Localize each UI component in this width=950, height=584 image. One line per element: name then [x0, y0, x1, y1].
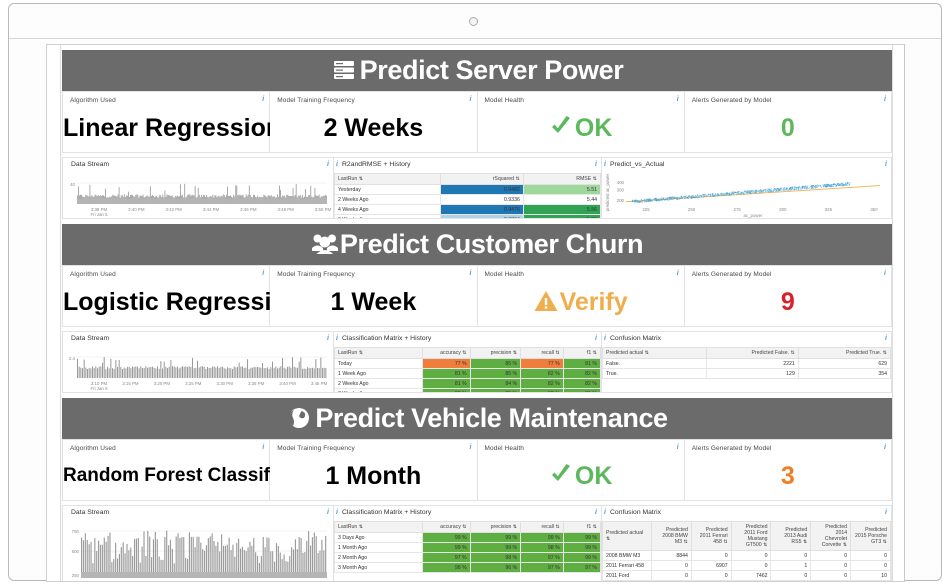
- svg-text:3:44 PM: 3:44 PM: [203, 207, 220, 212]
- cell-recall: 98 %: [521, 543, 564, 553]
- info-icon[interactable]: i: [336, 161, 338, 168]
- cell-rmse: 5.51: [523, 185, 600, 195]
- panel-header: i Confusion Matrix i: [602, 506, 891, 521]
- info-icon[interactable]: i: [604, 161, 606, 168]
- info-icon[interactable]: i: [884, 444, 886, 451]
- cell-precision: 98 %: [470, 553, 521, 563]
- cell-precision: 99 %: [470, 543, 521, 553]
- cell-rsquared: 0.9336: [441, 195, 523, 205]
- cell-f1: 82 %: [563, 379, 600, 389]
- info-icon[interactable]: i: [327, 509, 329, 516]
- table-row[interactable]: 2008 BMW M3884400000: [603, 551, 891, 561]
- cell-count: 0: [851, 551, 891, 561]
- col-header[interactable]: RMSE ⇅: [523, 174, 600, 185]
- svg-text:3:25 PM: 3:25 PM: [185, 381, 202, 386]
- svg-text:40: 40: [70, 182, 75, 187]
- info-icon[interactable]: i: [595, 509, 597, 516]
- panel-title: Predict_vs_Actual: [610, 161, 664, 168]
- cell-recall: 82 %: [521, 369, 564, 379]
- cell-count: 0: [691, 571, 731, 581]
- info-icon[interactable]: i: [327, 335, 329, 342]
- cell-lastrun: 2 Month Ago: [335, 553, 423, 563]
- right-gutter: [892, 45, 905, 582]
- kpi-value-algorithm: Random Forest Classifier: [63, 459, 269, 493]
- info-icon[interactable]: i: [885, 335, 887, 342]
- panel-title: Confusion Matrix: [610, 509, 661, 516]
- cell-count: 0: [811, 571, 851, 581]
- svg-text:3:30 PM: 3:30 PM: [217, 381, 234, 386]
- kpi-label: Algorithm Used: [70, 271, 116, 278]
- bezel-divider: [9, 38, 941, 39]
- cell-actual: 2011 Ford: [603, 571, 652, 581]
- panel-row: Data Stream i 2.43:10 PM3:15 PM3:20 PM3:…: [62, 331, 892, 393]
- svg-text:2018: 2018: [94, 217, 104, 219]
- cell-recall: 99 %: [521, 533, 564, 543]
- kpi-health[interactable]: Model Health i OK: [478, 91, 685, 153]
- svg-text:3:20 PM: 3:20 PM: [154, 381, 171, 386]
- cell-lastrun: 3 Days Ago: [335, 533, 423, 543]
- kpi-alerts[interactable]: Alerts Generated by Model i 0: [685, 91, 892, 153]
- kpi-frequency[interactable]: Model Training Frequency i 2 Weeks: [270, 91, 477, 153]
- cell-precision: 85 %: [470, 389, 521, 394]
- panel-title: R2andRMSE + History: [342, 161, 411, 168]
- check-icon: [549, 113, 573, 147]
- col-header[interactable]: Predicted actual ⇅: [603, 522, 652, 551]
- info-icon[interactable]: i: [262, 96, 264, 103]
- cell-count: 7462: [731, 571, 771, 581]
- cell-f1: 97 %: [563, 563, 600, 573]
- cell-count: 354: [798, 369, 890, 379]
- kpi-alerts[interactable]: Alerts Generated by Model i 3: [685, 439, 892, 501]
- section-predict-server-power: Predict Server Power Algorithm Used i Li…: [62, 50, 892, 219]
- camera-dot: [469, 17, 478, 26]
- cell-lastrun: 3 Weeks Ago: [335, 389, 423, 394]
- cell-accuracy: 81 %: [422, 379, 470, 389]
- cell-lastrun: 2 Weeks Ago: [335, 379, 423, 389]
- cell-count: 2221: [706, 359, 798, 369]
- col-header[interactable]: LastRun ⇅: [335, 174, 441, 185]
- data-stream-chart: 403:38 PM3:40 PM3:42 PM3:44 PM3:46 PM3:4…: [63, 173, 333, 219]
- info-icon[interactable]: i: [677, 444, 679, 451]
- panel-data-stream: Data Stream i 750500250: [62, 505, 334, 582]
- kpi-value-algorithm: Linear Regression: [63, 111, 269, 145]
- cell-count: 0: [811, 551, 851, 561]
- cell-recall: 97 %: [521, 563, 564, 573]
- table-row[interactable]: 3 Weeks Ago 82 % 85 % 83 % 81 %: [335, 389, 601, 394]
- cell-lastrun: 3 Month Ago: [335, 563, 423, 573]
- info-icon[interactable]: i: [884, 96, 886, 103]
- cell-count: 6907: [691, 561, 731, 571]
- kpi-value-frequency: 1 Week: [270, 285, 476, 319]
- kpi-health[interactable]: Model Health i Verify: [478, 265, 685, 327]
- table-row[interactable]: 6 Weeks Ago 0.9394 5.55: [335, 215, 601, 220]
- kpi-label: Model Training Frequency: [277, 97, 355, 104]
- kpi-algorithm[interactable]: Algorithm Used i Logistic Regression: [62, 265, 270, 327]
- info-icon[interactable]: i: [884, 270, 886, 277]
- cell-f1: 82 %: [563, 369, 600, 379]
- col-header[interactable]: Predicted True. ⇅: [798, 348, 890, 359]
- svg-text:2018: 2018: [94, 391, 104, 393]
- kpi-value-health: Verify: [478, 285, 684, 321]
- confusion-matrix-table: Predicted actual ⇅Predicted 2008 BMW M3 …: [602, 521, 891, 581]
- kpi-value-alerts: 3: [685, 459, 891, 493]
- panel-title: Confusion Matrix: [610, 335, 661, 342]
- kpi-value-alerts: 9: [685, 285, 891, 319]
- cell-lastrun: 2 Weeks Ago: [335, 195, 441, 205]
- panel-metrics: i Classification Matrix + History i Last…: [334, 505, 602, 582]
- svg-text:2.4: 2.4: [69, 356, 76, 361]
- panel-metrics: i Classification Matrix + History i Last…: [334, 331, 602, 393]
- col-header[interactable]: LastRun ⇅: [335, 522, 423, 533]
- cell-rmse: 5.56: [523, 205, 600, 215]
- svg-text:3:40 PM: 3:40 PM: [128, 207, 145, 212]
- cell-lastrun: Today: [335, 359, 423, 369]
- col-header[interactable]: recall ⇅: [521, 522, 564, 533]
- col-header[interactable]: Predicted 2015 Porsche GT3 ⇅: [851, 522, 891, 551]
- svg-text:200: 200: [617, 198, 625, 203]
- info-icon[interactable]: i: [336, 335, 338, 342]
- kpi-value-health: OK: [478, 459, 684, 495]
- col-header[interactable]: precision ⇅: [470, 348, 521, 359]
- cell-count: 129: [706, 369, 798, 379]
- svg-text:350: 350: [870, 207, 878, 212]
- cell-accuracy: 99 %: [422, 543, 470, 553]
- section-banner: Predict Vehicle Maintenance: [62, 398, 892, 439]
- section-banner: Predict Server Power: [62, 50, 892, 91]
- col-header[interactable]: Predicted 2013 Audi RS5 ⇅: [771, 522, 811, 551]
- cell-rsquared: 0.9394: [441, 215, 523, 220]
- info-icon[interactable]: i: [470, 96, 472, 103]
- info-icon[interactable]: i: [262, 444, 264, 451]
- panel-header: i R2andRMSE + History i: [334, 158, 601, 173]
- info-icon[interactable]: i: [885, 161, 887, 168]
- info-icon[interactable]: i: [595, 161, 597, 168]
- cell-precision: 96 %: [470, 563, 521, 573]
- svg-text:400: 400: [617, 180, 625, 185]
- panel-third: i Confusion Matrix i Predicted actual ⇅P…: [602, 331, 892, 393]
- cell-precision: 86 %: [470, 359, 521, 369]
- table-row[interactable]: 3 Month Ago 98 % 96 % 97 % 97 %: [335, 563, 601, 573]
- panel-title: Classification Matrix + History: [342, 335, 431, 342]
- classification-matrix-table: LastRun ⇅accuracy ⇅precision ⇅recall ⇅f1…: [334, 347, 601, 393]
- info-icon[interactable]: i: [595, 335, 597, 342]
- col-header[interactable]: accuracy ⇅: [422, 522, 470, 533]
- tablet-screen: Predict Server Power Algorithm Used i Li…: [46, 44, 905, 582]
- kpi-label: Model Training Frequency: [277, 445, 355, 452]
- svg-text:300: 300: [617, 188, 625, 193]
- panel-metrics: i R2andRMSE + History i LastRun ⇅rSquare…: [334, 157, 602, 219]
- kpi-label: Alerts Generated by Model: [692, 97, 772, 104]
- svg-text:3:45 PM: 3:45 PM: [311, 381, 328, 386]
- panel-header: i Confusion Matrix i: [602, 332, 891, 347]
- cell-accuracy: 97 %: [422, 553, 470, 563]
- svg-text:3:35 PM: 3:35 PM: [248, 381, 265, 386]
- kpi-label: Model Health: [485, 445, 525, 452]
- kpi-row: Algorithm Used i Linear Regression Model…: [62, 91, 892, 153]
- tablet-device: Predict Server Power Algorithm Used i Li…: [0, 0, 950, 584]
- cell-f1: 81 %: [563, 389, 600, 394]
- cell-actual: 2008 BMW M3: [603, 551, 652, 561]
- cell-count: 0: [771, 551, 811, 561]
- panel-third: i Confusion Matrix i Predicted actual ⇅P…: [602, 505, 892, 582]
- section-banner: Predict Customer Churn: [62, 224, 892, 265]
- svg-text:3:48 PM: 3:48 PM: [277, 207, 294, 212]
- kpi-label: Algorithm Used: [70, 445, 116, 452]
- cell-count: 1: [771, 561, 811, 571]
- kpi-algorithm[interactable]: Algorithm Used i Linear Regression: [62, 91, 270, 153]
- cell-recall: 83 %: [521, 389, 564, 394]
- cell-count: 8844: [652, 551, 692, 561]
- svg-text:3:15 PM: 3:15 PM: [122, 381, 139, 386]
- table-row[interactable]: Today 77 % 86 % 77 % 81 %: [335, 359, 601, 369]
- svg-text:300: 300: [779, 207, 787, 212]
- server-icon: [331, 57, 357, 83]
- svg-text:250: 250: [688, 207, 696, 212]
- panel-title: Classification Matrix + History: [342, 509, 431, 516]
- panel-header: Data Stream i: [63, 158, 333, 173]
- cell-precision: 84 %: [470, 379, 521, 389]
- svg-text:3:42 PM: 3:42 PM: [165, 207, 182, 212]
- kpi-label: Alerts Generated by Model: [692, 271, 772, 278]
- kpi-value-frequency: 1 Month: [270, 459, 476, 493]
- cell-precision: 85 %: [470, 369, 521, 379]
- data-stream-chart: 750500250: [63, 521, 333, 582]
- kpi-value-algorithm: Logistic Regression: [63, 285, 269, 319]
- panel-header: i Predict_vs_Actual i: [602, 158, 891, 173]
- table-row[interactable]: 2 Month Ago 97 % 98 % 97 % 99 %: [335, 553, 601, 563]
- svg-text:225: 225: [642, 207, 650, 212]
- kpi-label: Model Health: [485, 97, 525, 104]
- info-icon[interactable]: i: [885, 509, 887, 516]
- check-icon: [549, 461, 573, 495]
- cell-count: 0: [851, 561, 891, 571]
- panel-title: Data Stream: [71, 509, 109, 516]
- data-stream-chart: 2.43:10 PM3:15 PM3:20 PM3:25 PM3:30 PM3:…: [63, 347, 333, 393]
- panel-row: Data Stream i 403:38 PM3:40 PM3:42 PM3:4…: [62, 157, 892, 219]
- col-header[interactable]: Predicted 2011 Ford Mustang GT500 ⇅: [731, 522, 771, 551]
- svg-text:750: 750: [72, 529, 80, 534]
- cell-f1: 99 %: [563, 533, 600, 543]
- table-row[interactable]: 2011 Ferrari 458069070100: [603, 561, 891, 571]
- col-header[interactable]: Predicted 2008 BMW M3 ⇅: [652, 522, 692, 551]
- table-row[interactable]: 2 Weeks Ago 81 % 84 % 82 % 82 %: [335, 379, 601, 389]
- kpi-row: Algorithm Used i Random Forest Classifie…: [62, 439, 892, 501]
- cell-precision: 99 %: [470, 533, 521, 543]
- table-row[interactable]: 3 Days Ago 99 % 99 % 99 % 99 %: [335, 533, 601, 543]
- col-header[interactable]: Predicted 2014 Chevrolet Corvette ⇅: [811, 522, 851, 551]
- left-gutter: [47, 45, 61, 582]
- kpi-frequency[interactable]: Model Training Frequency i 1 Week: [270, 265, 477, 327]
- kpi-frequency[interactable]: Model Training Frequency i 1 Month: [270, 439, 477, 501]
- table-row[interactable]: 1 Week Ago 81 % 85 % 82 % 82 %: [335, 369, 601, 379]
- kpi-health[interactable]: Model Health i OK: [478, 439, 685, 501]
- cell-accuracy: 81 %: [422, 369, 470, 379]
- kpi-alerts[interactable]: Alerts Generated by Model i 9: [685, 265, 892, 327]
- panel-header: Data Stream i: [63, 332, 333, 347]
- classification-matrix-table: LastRun ⇅accuracy ⇅precision ⇅recall ⇅f1…: [334, 521, 601, 573]
- col-header[interactable]: accuracy ⇅: [422, 348, 470, 359]
- col-header[interactable]: Predicted False. ⇅: [706, 348, 798, 359]
- table-row[interactable]: 1 Month Ago 99 % 99 % 98 % 99 %: [335, 543, 601, 553]
- cell-count: 0: [731, 551, 771, 561]
- info-icon[interactable]: i: [470, 444, 472, 451]
- panel-title: Data Stream: [71, 335, 109, 342]
- col-header[interactable]: f1 ⇅: [563, 348, 600, 359]
- cell-f1: 99 %: [563, 553, 600, 563]
- kpi-value-alerts: 0: [685, 111, 891, 145]
- col-header[interactable]: LastRun ⇅: [335, 348, 423, 359]
- svg-text:250: 250: [72, 573, 80, 578]
- table-row[interactable]: 2011 Ford0074620010: [603, 571, 891, 581]
- col-header[interactable]: rSquared ⇅: [441, 174, 523, 185]
- table-row[interactable]: 2 Weeks Ago 0.9336 5.44: [335, 195, 601, 205]
- cell-recall: 77 %: [521, 359, 564, 369]
- cell-accuracy: 82 %: [422, 389, 470, 394]
- screen-content: Predict Server Power Algorithm Used i Li…: [47, 45, 905, 582]
- warning-icon: [534, 287, 558, 321]
- cell-rsquared: 0.9482: [441, 185, 523, 195]
- cell-count: 0: [691, 551, 731, 561]
- info-icon[interactable]: i: [677, 96, 679, 103]
- panel-data-stream: Data Stream i 2.43:10 PM3:15 PM3:20 PM3:…: [62, 331, 334, 393]
- cell-actual: False.: [603, 359, 707, 369]
- cell-recall: 97 %: [521, 553, 564, 563]
- col-header[interactable]: f1 ⇅: [563, 522, 600, 533]
- cell-f1: 81 %: [563, 359, 600, 369]
- panel-row: Data Stream i 750500250 i Classification…: [62, 505, 892, 582]
- section-title: Predict Vehicle Maintenance: [286, 405, 667, 432]
- cell-actual: True.: [603, 369, 707, 379]
- table-row[interactable]: True.129354: [603, 369, 891, 379]
- cell-accuracy: 98 %: [422, 563, 470, 573]
- kpi-value-health: OK: [478, 111, 684, 147]
- section-title: Predict Server Power: [331, 57, 624, 84]
- cell-count: 0: [652, 561, 692, 571]
- cell-rmse: 5.55: [523, 215, 600, 220]
- col-header[interactable]: recall ⇅: [521, 348, 564, 359]
- svg-text:500: 500: [72, 549, 80, 554]
- cell-lastrun: 4 Weeks Ago: [335, 205, 441, 215]
- panel-data-stream: Data Stream i 403:38 PM3:40 PM3:42 PM3:4…: [62, 157, 334, 219]
- cell-lastrun: Yesterday: [335, 185, 441, 195]
- info-icon[interactable]: i: [604, 509, 606, 516]
- svg-text:275: 275: [734, 207, 742, 212]
- panel-title: Data Stream: [71, 161, 109, 168]
- cell-f1: 99 %: [563, 543, 600, 553]
- cell-rmse: 5.44: [523, 195, 600, 205]
- cell-accuracy: 77 %: [422, 359, 470, 369]
- cell-count: 10: [851, 571, 891, 581]
- section-title: Predict Customer Churn: [311, 231, 643, 258]
- cell-actual: 2011 Ferrari 458: [603, 561, 652, 571]
- people-icon: [311, 231, 337, 257]
- cell-count: 0: [652, 571, 692, 581]
- cell-count: 629: [798, 359, 890, 369]
- cell-count: 0: [771, 571, 811, 581]
- info-icon[interactable]: i: [336, 509, 338, 516]
- table-row[interactable]: 4 Weeks Ago 0.9476 5.56: [335, 205, 601, 215]
- col-header[interactable]: Predicted 2011 Ferrari 458 ⇅: [691, 522, 731, 551]
- table-row[interactable]: False.2221629: [603, 359, 891, 369]
- section-predict-customer-churn: Predict Customer Churn Algorithm Used i …: [62, 224, 892, 393]
- kpi-label: Alerts Generated by Model: [692, 445, 772, 452]
- panel-header: i Classification Matrix + History i: [334, 506, 601, 521]
- svg-text:3:50 PM: 3:50 PM: [315, 207, 331, 212]
- col-header[interactable]: precision ⇅: [470, 522, 521, 533]
- panel-header: Data Stream i: [63, 506, 333, 521]
- svg-text:3:46 PM: 3:46 PM: [240, 207, 257, 212]
- dashboard: Predict Server Power Algorithm Used i Li…: [62, 45, 892, 582]
- panel-header: i Classification Matrix + History i: [334, 332, 601, 347]
- svg-text:325: 325: [825, 207, 833, 212]
- info-icon[interactable]: i: [677, 270, 679, 277]
- cell-count: 0: [731, 561, 771, 571]
- info-icon[interactable]: i: [604, 335, 606, 342]
- kpi-row: Algorithm Used i Logistic Regression Mod…: [62, 265, 892, 327]
- globe-icon: [286, 405, 312, 431]
- kpi-algorithm[interactable]: Algorithm Used i Random Forest Classifie…: [62, 439, 270, 501]
- svg-text:predicted ac_power: predicted ac_power: [605, 173, 610, 211]
- kpi-label: Model Health: [485, 271, 525, 278]
- confusion-matrix-table: Predicted actual ⇅Predicted False. ⇅Pred…: [602, 347, 891, 379]
- table-row[interactable]: Yesterday 0.9482 5.51: [335, 185, 601, 195]
- svg-text:3:40 PM: 3:40 PM: [279, 381, 296, 386]
- r2-rmse-table: LastRun ⇅rSquared ⇅RMSE ⇅ Yesterday 0.94…: [334, 173, 601, 219]
- svg-text:ac_power: ac_power: [743, 213, 763, 218]
- cell-lastrun: 1 Week Ago: [335, 369, 423, 379]
- info-icon[interactable]: i: [262, 270, 264, 277]
- section-predict-vehicle-maintenance: Predict Vehicle Maintenance Algorithm Us…: [62, 398, 892, 582]
- cell-count: 0: [811, 561, 851, 571]
- kpi-label: Model Training Frequency: [277, 271, 355, 278]
- info-icon[interactable]: i: [327, 161, 329, 168]
- cell-lastrun: 1 Month Ago: [335, 543, 423, 553]
- col-header[interactable]: Predicted actual ⇅: [603, 348, 707, 359]
- kpi-value-frequency: 2 Weeks: [270, 111, 476, 145]
- info-icon[interactable]: i: [470, 270, 472, 277]
- cell-recall: 82 %: [521, 379, 564, 389]
- cell-lastrun: 6 Weeks Ago: [335, 215, 441, 220]
- cell-rsquared: 0.9476: [441, 205, 523, 215]
- kpi-label: Algorithm Used: [70, 97, 116, 104]
- cell-accuracy: 99 %: [422, 533, 470, 543]
- panel-third: i Predict_vs_Actual i predicted ac_power…: [602, 157, 892, 219]
